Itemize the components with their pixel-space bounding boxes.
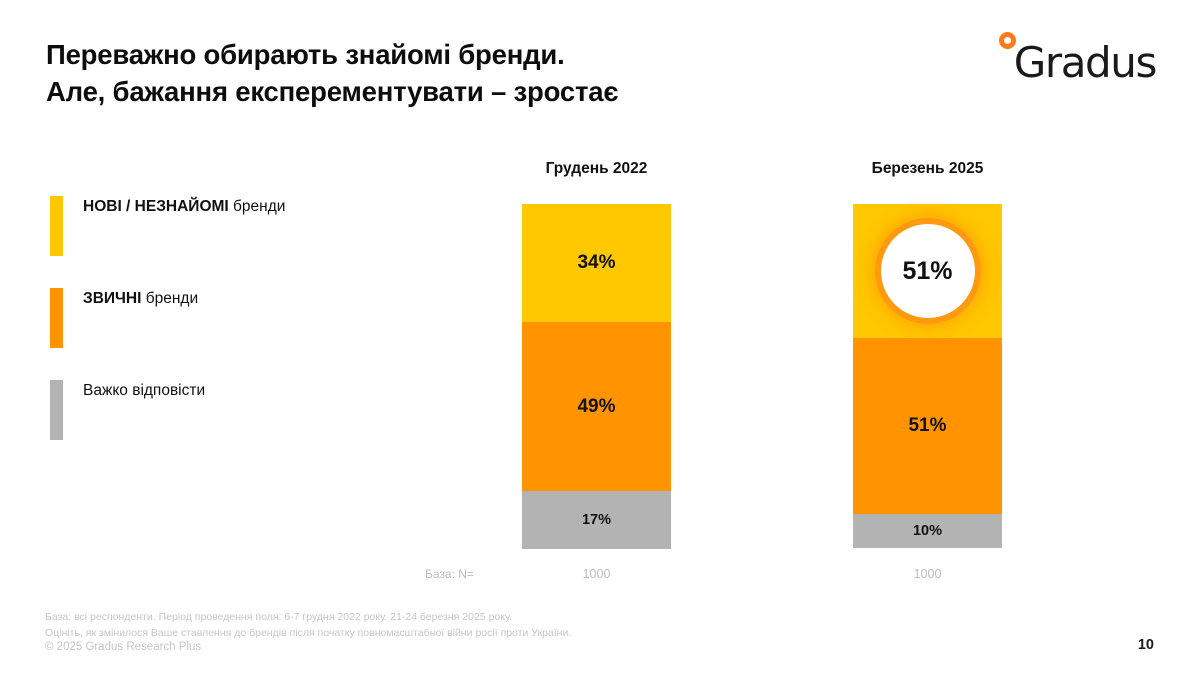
footnote-line-1: База: всі респонденти. Період проведення…: [45, 610, 571, 626]
legend-label-usual-brands-rest: бренди: [141, 290, 198, 307]
bar-segment-dec2022-usual-brands: 49%: [522, 322, 671, 491]
base-value-mar-2025: 1000: [853, 567, 1002, 581]
bar-segment-mar2025-usual-brands: 51%: [853, 338, 1002, 514]
legend-label-usual-brands: ЗВИЧНІ бренди: [83, 290, 198, 308]
bar-segment-dec2022-new-brands: 34%: [522, 204, 671, 322]
footnote: База: всі респонденти. Період проведення…: [45, 610, 571, 642]
slide: Переважно обирають знайомі бренди. Але, …: [0, 0, 1200, 675]
legend-swatch-usual-brands: [50, 288, 63, 348]
legend-label-new-brands: НОВІ / НЕЗНАЙОМІ бренди: [83, 198, 285, 216]
column-header-dec-2022: Грудень 2022: [522, 160, 671, 178]
legend-item-hard-to-answer: Важко відповісти: [50, 380, 410, 472]
legend-item-usual-brands: ЗВИЧНІ бренди: [50, 288, 410, 380]
legend-swatch-hard-to-answer: [50, 380, 63, 440]
legend-label-usual-brands-strong: ЗВИЧНІ: [83, 290, 141, 307]
bar-segment-dec2022-hard-to-answer: 17%: [522, 491, 671, 549]
legend-swatch-new-brands: [50, 196, 63, 256]
bar-segment-mar2025-hard-to-answer: 10%: [853, 514, 1002, 548]
chart-legend: НОВІ / НЕЗНАЙОМІ бренди ЗВИЧНІ бренди Ва…: [50, 196, 410, 472]
legend-label-hard-to-answer: Важко відповісти: [83, 382, 205, 400]
bar-segment-label-mar2025-hard-to-answer: 10%: [913, 523, 942, 539]
legend-label-hard-to-answer-rest: Важко відповісти: [83, 382, 205, 399]
footnote-line-2: Оцініть, як змінилося Ваше ставлення до …: [45, 626, 571, 642]
page-title-line-2: Але, бажання експерементувати – зростає: [46, 73, 866, 110]
copyright-text: © 2025 Gradus Research Plus: [45, 641, 201, 653]
page-title: Переважно обирають знайомі бренди. Але, …: [46, 36, 866, 111]
bar-segment-label-dec2022-new-brands: 34%: [577, 252, 615, 274]
legend-label-new-brands-strong: НОВІ / НЕЗНАЙОМІ: [83, 198, 229, 215]
page-number: 10: [1138, 637, 1154, 653]
bar-segment-label-mar2025-new-brands: 51%: [902, 257, 952, 286]
stacked-bar-dec-2022: 34% 49% 17%: [522, 204, 671, 549]
column-header-mar-2025: Березень 2025: [853, 160, 1002, 178]
highlight-circle-mar2025-new-brands: 51%: [881, 224, 975, 318]
base-label: База: N=: [425, 567, 474, 581]
bar-segment-label-dec2022-hard-to-answer: 17%: [582, 512, 611, 528]
bar-segment-label-mar2025-usual-brands: 51%: [908, 415, 946, 437]
base-value-dec-2022: 1000: [522, 567, 671, 581]
legend-label-new-brands-rest: бренди: [229, 198, 286, 215]
stacked-bar-mar-2025: 51% 51% 10%: [853, 204, 1002, 548]
logo-wordmark: Gradus: [1014, 38, 1156, 87]
legend-item-new-brands: НОВІ / НЕЗНАЙОМІ бренди: [50, 196, 410, 288]
gradus-logo: Gradus: [986, 26, 1156, 88]
bar-segment-label-dec2022-usual-brands: 49%: [577, 396, 615, 418]
bar-segment-mar2025-new-brands: 51%: [853, 204, 1002, 338]
page-title-line-1: Переважно обирають знайомі бренди.: [46, 36, 866, 73]
